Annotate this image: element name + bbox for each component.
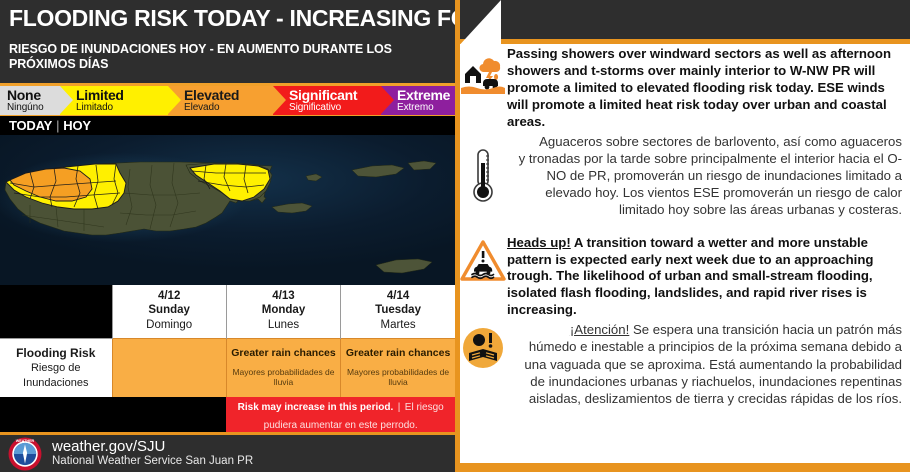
table-header-row: 4/12 Sunday Domingo 4/13 Monday Lunes 4/… bbox=[0, 285, 455, 338]
footer-text: weather.gov/SJU National Weather Service… bbox=[52, 439, 253, 468]
advisory-text-forecast-es: Aguaceros sobre sectores de barlovento, … bbox=[507, 133, 902, 219]
headsup-paragraph-es: ¡Atención! Se espera una transición haci… bbox=[507, 321, 902, 407]
risk-increase-note-en: Risk may increase in this period. bbox=[238, 402, 394, 413]
risk-cell-tuesday: Greater rain chances Mayores probabilida… bbox=[341, 338, 455, 396]
risk-level-none-label-es: Ningúno bbox=[7, 102, 60, 114]
risk-level-limited: Limited Limitado bbox=[60, 86, 168, 115]
headsup-lead-en: Heads up! bbox=[507, 235, 571, 250]
table-note-row: Risk may increase in this period. | El r… bbox=[0, 397, 455, 433]
map-island-vi-2 bbox=[408, 161, 436, 170]
risk-level-extreme-label-en: Extreme bbox=[397, 88, 455, 102]
map-island-vi-1 bbox=[352, 165, 404, 177]
day-header-tuesday: 4/14 Tuesday Martes bbox=[341, 285, 455, 338]
subtitle-spanish: RIESGO DE INUNDACIONES HOY - EN AUMENTO … bbox=[0, 36, 455, 83]
forecast-table: 4/12 Sunday Domingo 4/13 Monday Lunes 4/… bbox=[0, 285, 455, 433]
risk-level-significant-label-es: Significativo bbox=[289, 102, 381, 114]
right-panel: Passing showers over windward sectors as… bbox=[455, 0, 910, 472]
day-dow-en-1: Monday bbox=[229, 303, 338, 317]
forecast-paragraph-es: Aguaceros sobre sectores de barlovento, … bbox=[507, 133, 902, 219]
today-label-es: HOY bbox=[63, 118, 91, 133]
nws-logo-icon: WEATHER bbox=[8, 437, 42, 471]
day-header-monday: 4/13 Monday Lunes bbox=[226, 285, 340, 338]
flooded-house-car-storm-icon bbox=[459, 46, 507, 94]
today-label-en: TODAY bbox=[9, 118, 52, 133]
risk-level-significant: Significant Significativo bbox=[273, 86, 381, 115]
map-island-culebra bbox=[306, 174, 322, 181]
today-label: TODAY | HOY bbox=[0, 116, 455, 135]
risk-level-none-label-en: None bbox=[7, 88, 60, 102]
risk-level-extreme-label-es: Extremo bbox=[397, 102, 455, 114]
table-corner-blank bbox=[0, 285, 112, 338]
risk-cell-en-2: Greater rain chances bbox=[344, 347, 452, 360]
advisory-blocks: Passing showers over windward sectors as… bbox=[455, 44, 910, 463]
risk-scale: None Ningúno Limited Limitado Elevated E… bbox=[0, 83, 455, 116]
svg-text:WEATHER: WEATHER bbox=[16, 438, 35, 442]
risk-level-limited-label-en: Limited bbox=[76, 88, 168, 102]
risk-cell-es-2: Mayores probabilidades de lluvia bbox=[344, 367, 452, 388]
day-dow-en-0: Sunday bbox=[115, 303, 224, 317]
advisory-block-forecast-en: Passing showers over windward sectors as… bbox=[459, 46, 902, 131]
forecast-paragraph-en: Passing showers over windward sectors as… bbox=[507, 46, 902, 131]
forecast-table-wrapper: 4/12 Sunday Domingo 4/13 Monday Lunes 4/… bbox=[0, 285, 455, 433]
risk-cell-en-1: Greater rain chances bbox=[230, 347, 337, 360]
footer-url[interactable]: weather.gov/SJU bbox=[52, 439, 253, 455]
row-label-es-1: Riesgo de bbox=[4, 361, 108, 376]
right-bottom-bar bbox=[455, 463, 910, 472]
day-dow-en-2: Tuesday bbox=[343, 303, 453, 317]
row-label-flooding-risk: Flooding Risk Riesgo de Inundaciones bbox=[0, 338, 112, 396]
thermometer-icon bbox=[459, 133, 507, 205]
risk-increase-note: Risk may increase in this period. | El r… bbox=[226, 397, 455, 433]
weather-graphic: FLOODING RISK TODAY - INCREASING FOR THE… bbox=[0, 0, 910, 472]
headsup-paragraph-en: Heads up! A transition toward a wetter a… bbox=[507, 235, 902, 320]
advisory-text-headsup-en: Heads up! A transition toward a wetter a… bbox=[507, 235, 902, 320]
advisory-block-forecast-es: Aguaceros sobre sectores de barlovento, … bbox=[459, 133, 902, 219]
headsup-lead-es: ¡Atención! bbox=[570, 322, 629, 337]
map-island-vieques bbox=[272, 203, 312, 213]
map-shapes bbox=[0, 135, 455, 285]
risk-level-elevated-label-es: Elevado bbox=[184, 102, 273, 114]
risk-cell-sunday bbox=[112, 338, 226, 396]
day-date-1: 4/13 bbox=[229, 289, 338, 303]
left-panel: RIESGO DE INUNDACIONES HOY - EN AUMENTO … bbox=[0, 36, 455, 472]
risk-level-elevated: Elevated Elevado bbox=[168, 86, 273, 115]
advisory-text-forecast-en: Passing showers over windward sectors as… bbox=[507, 46, 902, 131]
day-header-sunday: 4/12 Sunday Domingo bbox=[112, 285, 226, 338]
day-dow-es-2: Martes bbox=[343, 318, 453, 333]
risk-increase-note-sep: | bbox=[398, 402, 401, 413]
today-label-separator: | bbox=[56, 118, 59, 133]
risk-level-limited-label-es: Limitado bbox=[76, 102, 168, 114]
day-dow-es-1: Lunes bbox=[229, 318, 338, 333]
risk-map bbox=[0, 135, 455, 285]
footer-org: National Weather Service San Juan PR bbox=[52, 455, 253, 468]
day-date-0: 4/12 bbox=[115, 289, 224, 303]
footer: WEATHER weather.gov/SJU National Weather… bbox=[0, 432, 455, 472]
advisory-block-headsup-en: Heads up! A transition toward a wetter a… bbox=[459, 235, 902, 320]
person-reading-alert-icon bbox=[459, 321, 507, 369]
map-island-st-croix bbox=[376, 259, 432, 273]
day-dow-es-0: Domingo bbox=[115, 318, 224, 333]
right-top-bar bbox=[455, 0, 910, 44]
row-label-es-2: Inundaciones bbox=[4, 376, 108, 391]
risk-level-elevated-label-en: Elevated bbox=[184, 88, 273, 102]
table-risk-row: Flooding Risk Riesgo de Inundaciones Gre… bbox=[0, 338, 455, 396]
right-divider bbox=[455, 0, 460, 472]
flooded-road-warning-icon bbox=[459, 235, 507, 283]
risk-level-significant-label-en: Significant bbox=[289, 88, 381, 102]
advisory-text-headsup-es: ¡Atención! Se espera una transición haci… bbox=[507, 321, 902, 407]
day-date-2: 4/14 bbox=[343, 289, 453, 303]
risk-level-none: None Ningúno bbox=[0, 86, 60, 115]
advisory-block-headsup-es: ¡Atención! Se espera una transición haci… bbox=[459, 321, 902, 407]
risk-cell-monday: Greater rain chances Mayores probabilida… bbox=[226, 338, 340, 396]
risk-cell-es-1: Mayores probabilidades de lluvia bbox=[230, 367, 337, 388]
note-blank-cell bbox=[0, 397, 226, 433]
row-label-en: Flooding Risk bbox=[4, 345, 108, 361]
